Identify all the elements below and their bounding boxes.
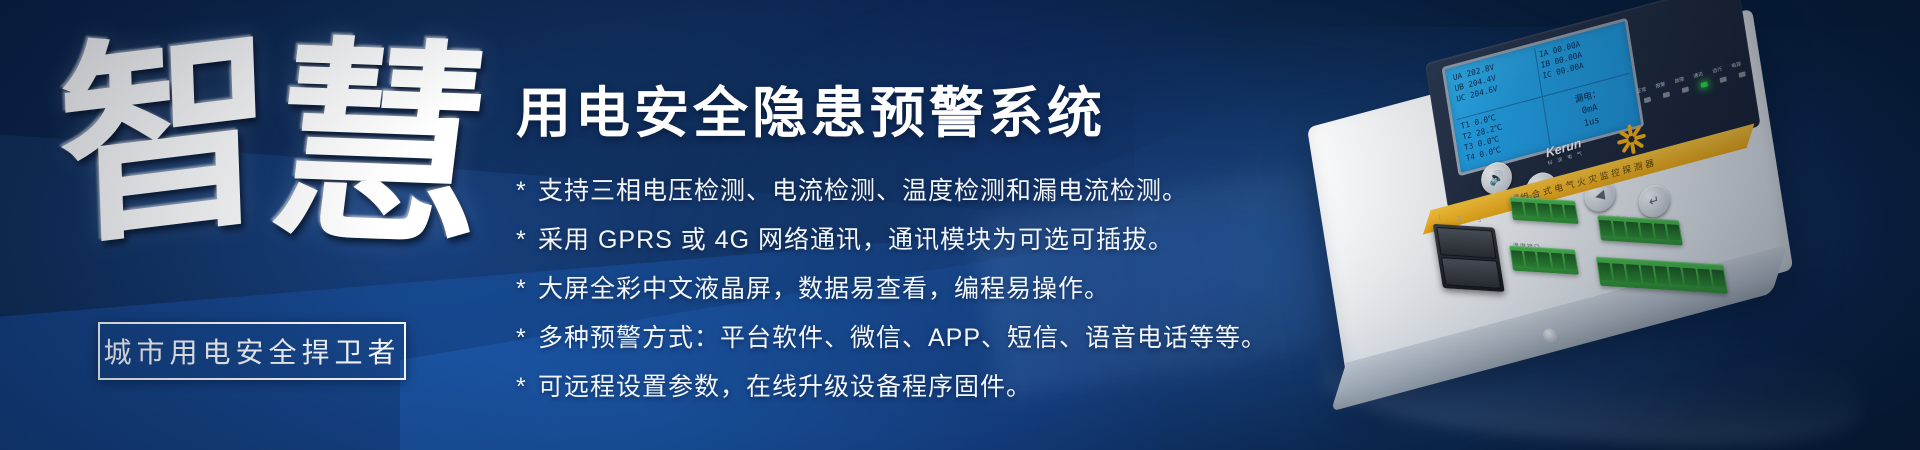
green-terminal-current xyxy=(1597,215,1683,245)
calligraphy-art: 智慧 xyxy=(52,7,495,349)
page-title: 用电安全隐患预警系统 xyxy=(516,86,1306,141)
list-item-text: 可远程设置参数，在线升级设备程序固件。 xyxy=(538,375,1032,400)
list-item: * 支持三相电压检测、电流检测、温度检测和漏电流检测。 xyxy=(516,179,1306,204)
list-item: * 大屏全彩中文液晶屏，数据易查看，编程易操作。 xyxy=(516,277,1306,302)
bullet-marker-icon: * xyxy=(516,375,538,400)
list-item-text: 大屏全彩中文液晶屏，数据易查看，编程易操作。 xyxy=(538,277,1110,302)
bullet-marker-icon: * xyxy=(516,228,538,253)
copy-block: 用电安全隐患预警系统 * 支持三相电压检测、电流检测、温度检测和漏电流检测。 *… xyxy=(516,86,1306,424)
shift-icon: ◀ xyxy=(1594,186,1606,204)
bullet-marker-icon: * xyxy=(516,326,538,351)
lcd-footer: 1us xyxy=(1583,114,1600,131)
black-terminal-block xyxy=(1433,224,1505,292)
bullet-marker-icon: * xyxy=(516,277,538,302)
list-item: * 多种预警方式：平台软件、微信、APP、短信、语音电话等等。 xyxy=(516,326,1306,351)
calligraphy-char-zhi: 智 xyxy=(56,17,285,257)
slogan-box: 城市用电安全捍卫者 xyxy=(98,322,406,380)
promo-banner: 智慧 城市用电安全捍卫者 用电安全隐患预警系统 * 支持三相电压检测、电流检测、… xyxy=(0,0,1920,450)
list-item: * 采用 GPRS 或 4G 网络通讯，通讯模块为可选可插拔。 xyxy=(516,228,1306,253)
black-terminal-slot xyxy=(1436,227,1496,259)
feature-list: * 支持三相电压检测、电流检测、温度检测和漏电流检测。 * 采用 GPRS 或 … xyxy=(516,179,1306,400)
green-terminal-temp xyxy=(1509,245,1579,274)
green-terminal-comm xyxy=(1509,197,1578,224)
list-item-text: 多种预警方式：平台软件、微信、APP、短信、语音电话等等。 xyxy=(538,326,1267,351)
list-item-text: 采用 GPRS 或 4G 网络通讯，通讯模块为可选可插拔。 xyxy=(538,228,1174,253)
mute-icon: 🔊 xyxy=(1488,169,1506,189)
confirm-icon: ↵ xyxy=(1648,192,1661,210)
list-item: * 可远程设置参数，在线升级设备程序固件。 xyxy=(516,375,1306,400)
slogan-text: 城市用电安全捍卫者 xyxy=(103,331,400,371)
bullet-marker-icon: * xyxy=(516,179,538,204)
black-terminal-slot xyxy=(1441,257,1501,289)
list-item-text: 支持三相电压检测、电流检测、温度检测和漏电流检测。 xyxy=(538,179,1188,204)
calligraphy-char-hui: 慧 xyxy=(259,34,505,257)
